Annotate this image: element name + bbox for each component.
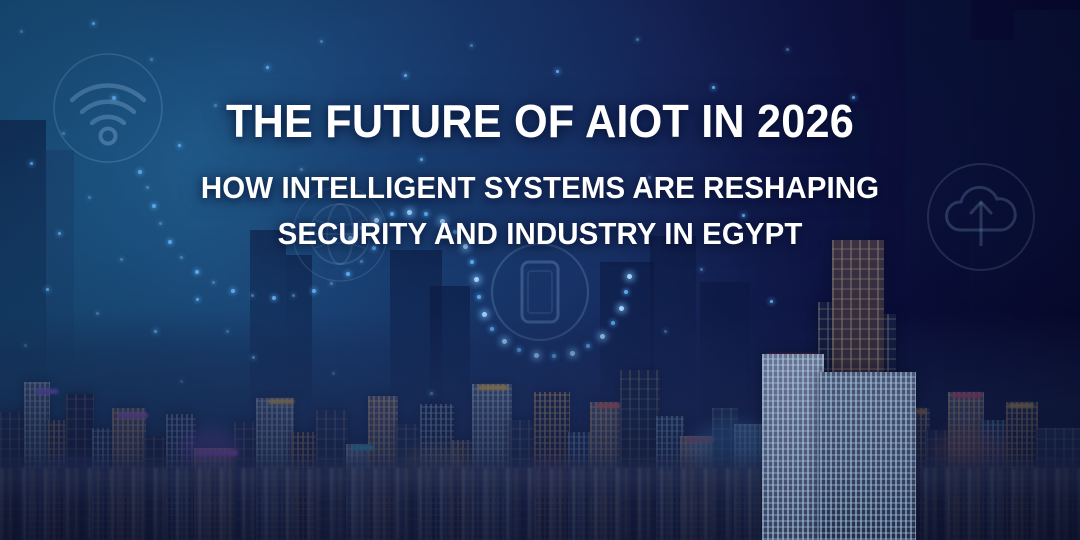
subtitle-line-2: SECURITY AND INDUSTRY IN EGYPT	[27, 214, 1053, 254]
aiot-banner: THE FUTURE OF AIOT IN 2026 HOW INTELLIGE…	[0, 0, 1080, 540]
vignette	[0, 0, 1080, 540]
banner-text-block: THE FUTURE OF AIOT IN 2026 HOW INTELLIGE…	[0, 96, 1080, 254]
subtitle-line-1: HOW INTELLIGENT SYSTEMS ARE RESHAPING	[27, 168, 1053, 208]
page-title: THE FUTURE OF AIOT IN 2026	[32, 96, 1047, 146]
